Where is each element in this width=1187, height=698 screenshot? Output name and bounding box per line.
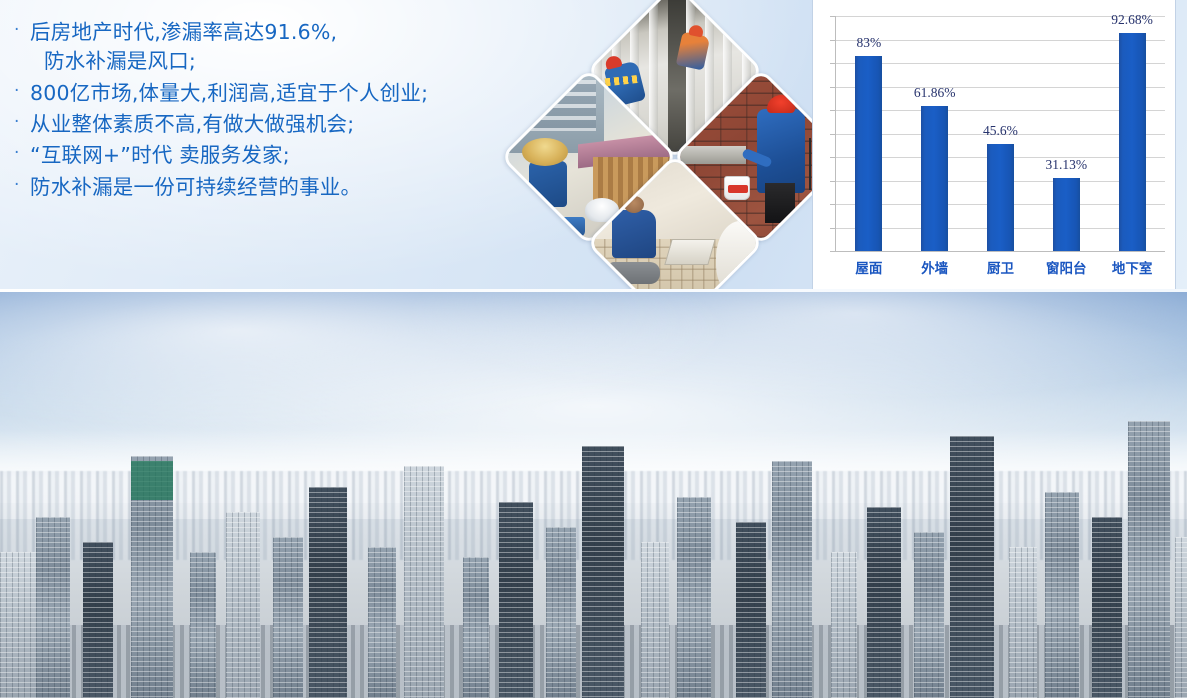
skyline-building	[273, 537, 303, 698]
skyline-building	[641, 542, 669, 698]
skyline-building	[131, 456, 173, 698]
skyline-building	[309, 487, 347, 698]
x-axis-label: 窗阳台	[1033, 257, 1099, 277]
bullet-line-1: 后房地产时代,渗漏率高达91.6%,	[30, 20, 337, 44]
skyline-building	[190, 552, 216, 698]
skyline-building	[677, 497, 711, 698]
gridline	[835, 251, 1165, 252]
list-item: · 800亿市场,体量大,利润高,适宜于个人创业;	[14, 79, 514, 108]
top-content-panel: · 后房地产时代,渗漏率高达91.6%, 防水补漏是风口; · 800亿市场,体…	[0, 0, 1187, 292]
bullet-dot-icon: ·	[14, 79, 30, 103]
skyline-building	[1175, 537, 1187, 698]
bar-value-label: 92.68%	[1111, 12, 1153, 28]
brick-worker-body	[757, 109, 805, 193]
skyline-building	[772, 461, 812, 698]
bullet-text: 防水补漏是一份可持续经营的事业。	[30, 173, 361, 202]
bar-group: 61.86%	[902, 16, 968, 251]
skyline-building	[1045, 492, 1079, 698]
list-item: · 后房地产时代,渗漏率高达91.6%, 防水补漏是风口;	[14, 18, 514, 76]
bullet-text: “互联网+”时代 卖服务发家;	[30, 141, 290, 170]
list-item: · 防水补漏是一份可持续经营的事业。	[14, 173, 514, 202]
skyline-building	[867, 507, 901, 698]
bullet-line-2: 防水补漏是风口;	[30, 47, 337, 76]
skyline-building	[404, 466, 444, 698]
bathroom-worker-body	[612, 210, 656, 258]
photo-collage	[508, 2, 808, 292]
bullet-dot-icon: ·	[14, 173, 30, 197]
skyline-building	[1009, 547, 1037, 698]
bar-group: 31.13%	[1033, 16, 1099, 251]
brick-worker-legs	[765, 183, 795, 223]
bullet-text: 800亿市场,体量大,利润高,适宜于个人创业;	[30, 79, 428, 108]
x-axis-label: 屋面	[836, 257, 902, 277]
bar-value-label: 61.86%	[914, 85, 956, 101]
bar-value-label: 83%	[857, 35, 882, 51]
bathroom-worker-legs	[608, 262, 660, 284]
bar-value-label: 45.6%	[983, 123, 1018, 139]
skyline-building	[950, 436, 994, 698]
skyline-building	[36, 517, 70, 698]
skyline-building	[546, 527, 576, 698]
bullet-dot-icon: ·	[14, 141, 30, 165]
list-item: · “互联网+”时代 卖服务发家;	[14, 141, 514, 170]
leakage-rate-bar-chart: 83%61.86%45.6%31.13%92.68% 屋面外墙厨卫窗阳台地下室	[812, 0, 1176, 290]
slide-root: · 后房地产时代,渗漏率高达91.6%, 防水补漏是风口; · 800亿市场,体…	[0, 0, 1187, 698]
chart-bar[interactable]: 31.13%	[1053, 178, 1080, 251]
chart-inner: 83%61.86%45.6%31.13%92.68% 屋面外墙厨卫窗阳台地下室	[813, 0, 1175, 289]
bar-group: 92.68%	[1099, 16, 1165, 251]
list-item: · 从业整体素质不高,有做大做强机会;	[14, 110, 514, 139]
skyline-building	[83, 542, 113, 698]
y-axis-tick	[830, 251, 836, 252]
skyline-building	[914, 532, 944, 698]
chart-x-axis-labels: 屋面外墙厨卫窗阳台地下室	[836, 257, 1165, 277]
city-skyline-photo	[0, 292, 1187, 698]
bullet-text: 后房地产时代,渗漏率高达91.6%, 防水补漏是风口;	[30, 18, 337, 76]
chart-bar[interactable]: 61.86%	[921, 106, 948, 251]
bullet-list: · 后房地产时代,渗漏率高达91.6%, 防水补漏是风口; · 800亿市场,体…	[14, 18, 514, 204]
bar-value-label: 31.13%	[1045, 157, 1087, 173]
bullet-dot-icon: ·	[14, 18, 30, 42]
chart-bar[interactable]: 83%	[855, 56, 882, 251]
bar-group: 45.6%	[968, 16, 1034, 251]
chart-bars: 83%61.86%45.6%31.13%92.68%	[836, 16, 1165, 251]
blue-bucket	[559, 217, 585, 237]
skyline-building	[1092, 517, 1122, 698]
x-axis-label: 地下室	[1099, 257, 1165, 277]
chart-plot-area: 83%61.86%45.6%31.13%92.68%	[835, 16, 1165, 251]
skyline-building	[368, 547, 396, 698]
bullet-dot-icon: ·	[14, 110, 30, 134]
bar-group: 83%	[836, 16, 902, 251]
skyline-building	[226, 512, 260, 698]
skyline-building	[499, 502, 533, 698]
floor-pan	[664, 239, 715, 265]
skyline-building	[831, 552, 857, 698]
skyline-building	[582, 446, 624, 698]
chart-bar[interactable]: 45.6%	[987, 144, 1014, 251]
wall-worker-body	[529, 161, 567, 207]
x-axis-label: 外墙	[902, 257, 968, 277]
chart-bar[interactable]: 92.68%	[1119, 33, 1146, 251]
skyline-building	[736, 522, 766, 698]
skyline-building	[1128, 421, 1170, 698]
roof-gutter	[668, 0, 686, 160]
paint-pail	[724, 176, 750, 200]
bullet-text: 从业整体素质不高,有做大做强机会;	[30, 110, 354, 139]
skyline-building	[463, 557, 489, 698]
x-axis-label: 厨卫	[968, 257, 1034, 277]
